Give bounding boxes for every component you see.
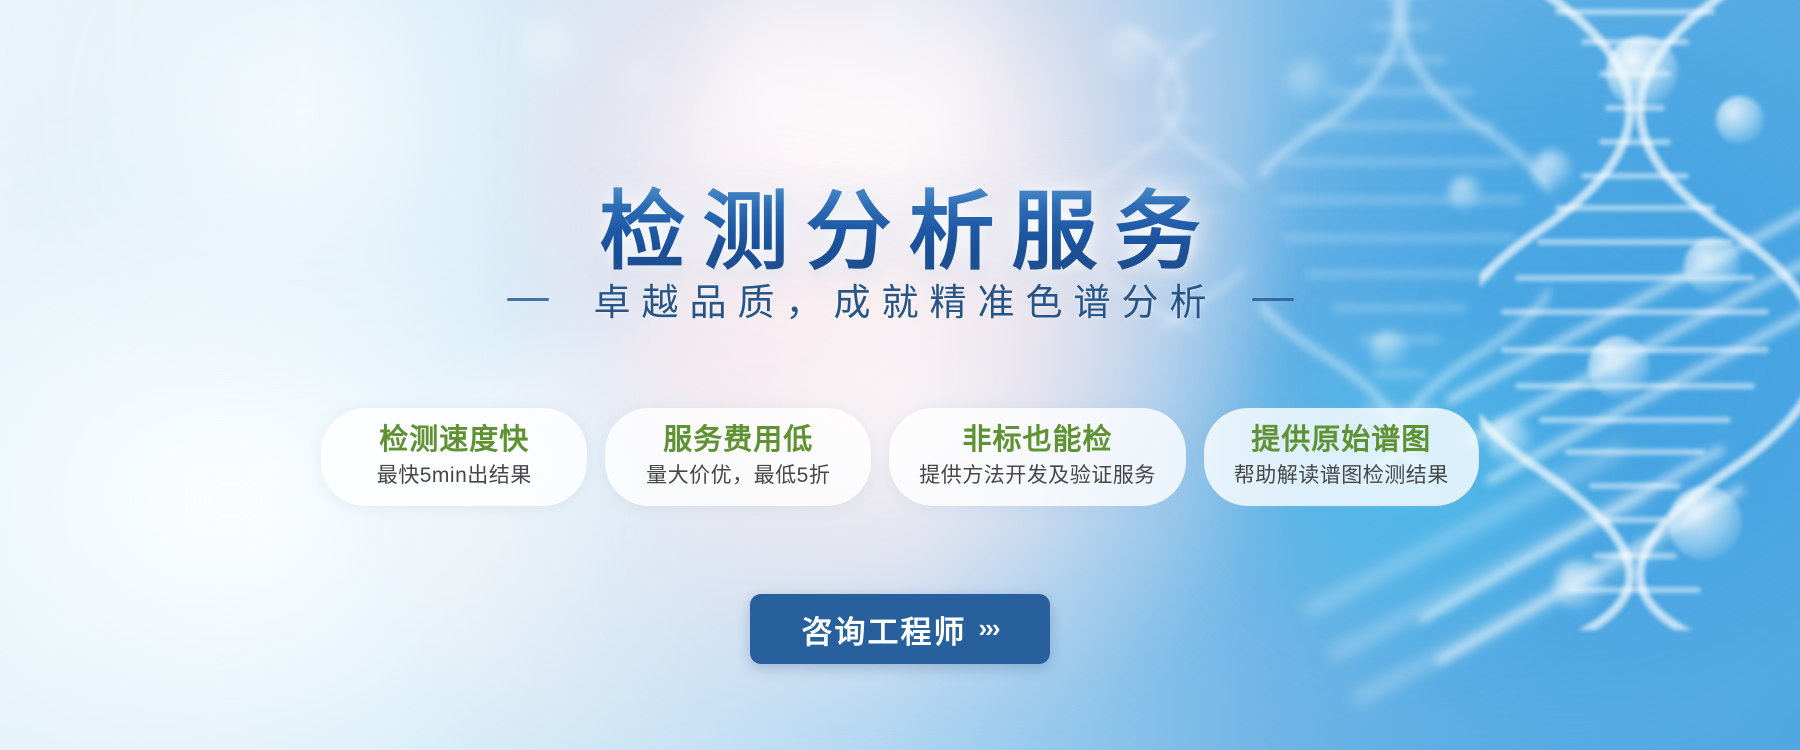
feature-pill: 检测速度快 最快5min出结果	[321, 408, 587, 506]
feature-pill-title: 提供原始谱图	[1234, 421, 1449, 459]
chevron-right-triple-icon: ›››	[979, 615, 999, 641]
subtitle-dash-left	[507, 298, 549, 301]
feature-pill-title: 非标也能检	[919, 421, 1156, 459]
feature-pill: 非标也能检 提供方法开发及验证服务	[889, 408, 1186, 506]
banner-title: 检测分析服务	[0, 184, 1800, 280]
feature-pill-subtitle: 量大价优，最低5折	[635, 462, 841, 489]
subtitle-dash-right	[1252, 298, 1294, 301]
feature-pill-title: 服务费用低	[635, 421, 841, 459]
feature-pill-subtitle: 最快5min出结果	[351, 462, 557, 489]
banner-subtitle: 卓越品质，成就精准色谱分析	[583, 272, 1218, 326]
consult-engineer-button[interactable]: 咨询工程师 ›››	[750, 594, 1051, 664]
cta-label: 咨询工程师	[802, 607, 967, 652]
feature-pill: 提供原始谱图 帮助解读谱图检测结果	[1204, 408, 1479, 506]
feature-pill: 服务费用低 量大价优，最低5折	[605, 408, 871, 506]
cta-container: 咨询工程师 ›››	[0, 594, 1800, 664]
feature-pill-list: 检测速度快 最快5min出结果 服务费用低 量大价优，最低5折 非标也能检 提供…	[0, 408, 1800, 506]
banner-content: 检测分析服务 卓越品质，成就精准色谱分析 检测速度快 最快5min出结果 服务费…	[0, 0, 1800, 750]
banner-subtitle-row: 卓越品质，成就精准色谱分析	[0, 272, 1800, 326]
feature-pill-subtitle: 帮助解读谱图检测结果	[1234, 462, 1449, 489]
feature-pill-title: 检测速度快	[351, 421, 557, 459]
promotional-banner: 检测分析服务 卓越品质，成就精准色谱分析 检测速度快 最快5min出结果 服务费…	[0, 0, 1800, 750]
feature-pill-subtitle: 提供方法开发及验证服务	[919, 462, 1156, 489]
